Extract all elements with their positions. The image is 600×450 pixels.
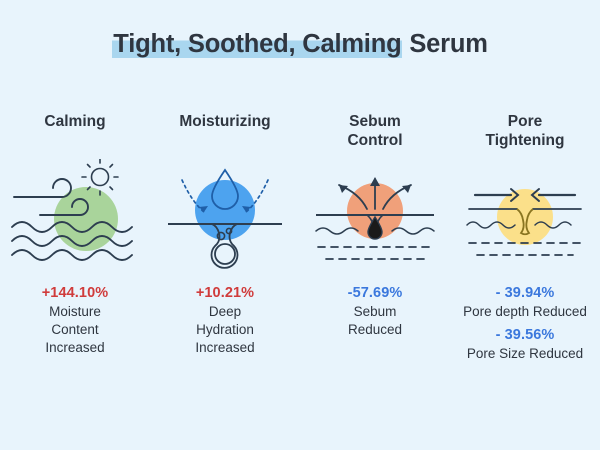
stat-label-line3: Increased	[42, 339, 109, 357]
stat-value: -57.69%	[348, 284, 403, 303]
stat-label-line1: Deep	[195, 303, 254, 321]
stat-block: +10.21% Deep Hydration Increased	[195, 284, 254, 357]
column-calming: Calming	[0, 112, 150, 363]
stats-calming: +144.10% Moisture Content Increased	[42, 284, 109, 357]
infographic-root: Tight, Soothed, Calming Serum Calming	[0, 0, 600, 450]
column-heading-line1: Moisturizing	[179, 112, 270, 131]
column-heading-line1: Sebum	[347, 112, 402, 131]
stats-moisturizing: +10.21% Deep Hydration Increased	[195, 284, 254, 357]
stats-sebum-control: -57.69% Sebum Reduced	[348, 284, 403, 339]
stat-value: - 39.94%	[463, 284, 587, 303]
title-highlighted-text: Tight, Soothed, Calming	[112, 30, 402, 58]
column-heading-sebum-control: Sebum Control	[347, 112, 402, 156]
column-heading-calming: Calming	[44, 112, 105, 156]
stat-block: - 39.56% Pore Size Reduced	[463, 326, 587, 363]
stat-label-line1: Pore depth Reduced	[463, 303, 587, 321]
sebum-release-arrows-icon	[305, 158, 445, 270]
stat-block: +144.10% Moisture Content Increased	[42, 284, 109, 357]
stat-block: - 39.94% Pore depth Reduced	[463, 284, 587, 321]
stat-label-line1: Moisture	[42, 303, 109, 321]
column-heading-moisturizing: Moisturizing	[179, 112, 270, 156]
pore-tightening-arrows-icon	[455, 158, 595, 270]
benefit-columns: Calming	[0, 112, 600, 363]
stats-pore-tightening: - 39.94% Pore depth Reduced - 39.56% Por…	[463, 284, 587, 363]
column-sebum-control: Sebum Control	[300, 112, 450, 363]
page-title: Tight, Soothed, Calming Serum	[112, 30, 487, 59]
stat-value: - 39.56%	[463, 326, 587, 345]
stat-value: +10.21%	[195, 284, 254, 303]
column-heading-line2: Tightening	[486, 131, 565, 150]
stat-label-line2: Hydration	[195, 321, 254, 339]
stat-label-line2: Content	[42, 321, 109, 339]
title-container: Tight, Soothed, Calming Serum	[0, 0, 600, 59]
stat-block: -57.69% Sebum Reduced	[348, 284, 403, 339]
column-heading-line1: Pore	[486, 112, 565, 131]
stat-value: +144.10%	[42, 284, 109, 303]
column-heading-line1: Calming	[44, 112, 105, 131]
column-heading-line2: Control	[347, 131, 402, 150]
water-droplet-pore-icon	[155, 158, 295, 270]
column-pore-tightening: Pore Tightening	[450, 112, 600, 363]
stat-label-line1: Sebum	[348, 303, 403, 321]
stat-label-line3: Increased	[195, 339, 254, 357]
stat-label-line1: Pore Size Reduced	[463, 345, 587, 363]
column-heading-pore-tightening: Pore Tightening	[486, 112, 565, 156]
calming-waves-sun-icon	[5, 158, 145, 270]
title-plain-text: Serum	[402, 30, 487, 58]
stat-label-line2: Reduced	[348, 321, 403, 339]
column-moisturizing: Moisturizing	[150, 112, 300, 363]
